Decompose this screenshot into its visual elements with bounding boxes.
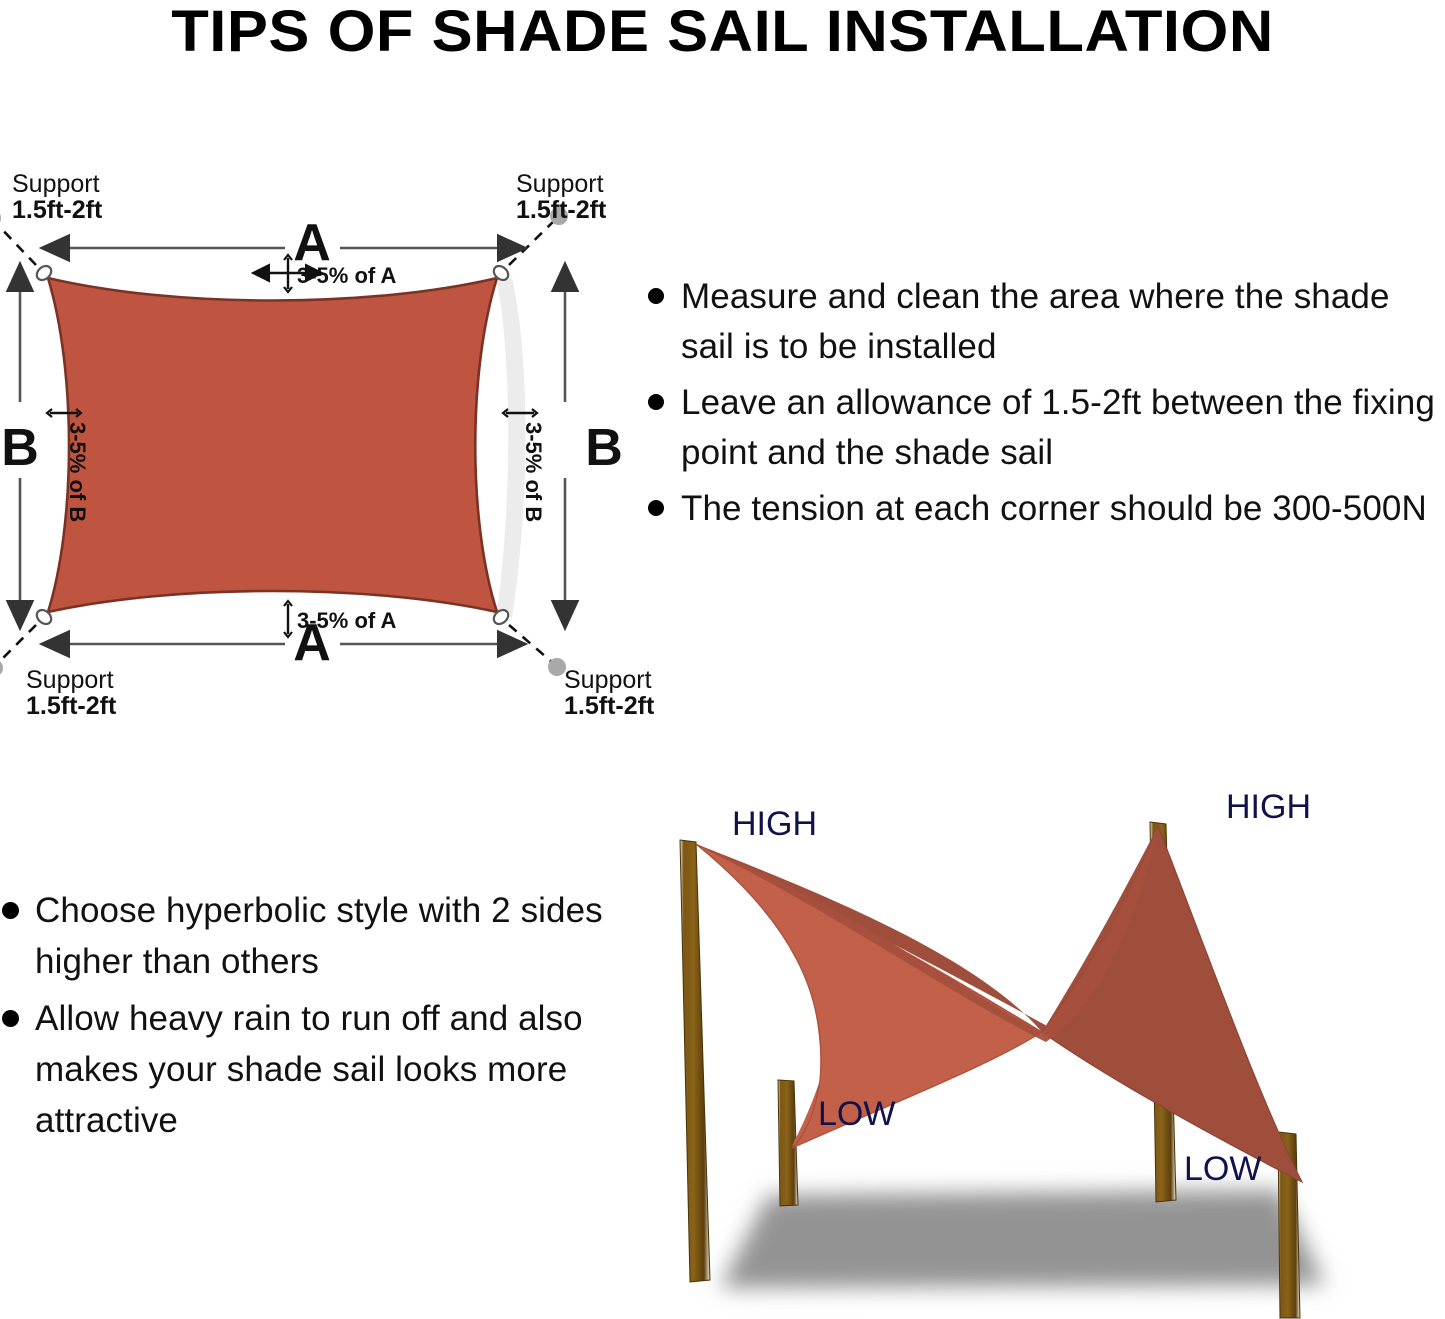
support-top-right-line1: Support bbox=[516, 170, 604, 198]
support-bottom-right-line1: Support bbox=[564, 666, 652, 694]
rectangular-sail-diagram: A 3-5% of A A 3-5% of A B 3-5% of B B 3-… bbox=[0, 160, 660, 730]
bullet-icon bbox=[2, 1010, 19, 1027]
list-item: Leave an allowance of 1.5-2ft between th… bbox=[648, 378, 1445, 478]
post-label-low-right: LOW bbox=[1184, 1150, 1261, 1188]
post-label-high-left: HIGH bbox=[732, 805, 817, 843]
support-line-bottom-left bbox=[0, 625, 36, 664]
sag-b-right-label: 3-5% of B bbox=[521, 422, 546, 522]
support-bottom-left-line2: 1.5ft-2ft bbox=[26, 692, 117, 720]
support-line-bottom-right bbox=[509, 625, 553, 663]
support-line-top-left bbox=[0, 222, 36, 265]
bullet-icon bbox=[2, 902, 19, 919]
bullet-icon bbox=[648, 394, 664, 410]
dim-b-left-label: B bbox=[1, 419, 39, 477]
tips-list-right: Measure and clean the area where the sha… bbox=[648, 272, 1445, 540]
sag-a-bottom-label: 3-5% of A bbox=[297, 608, 397, 633]
ground-shadow bbox=[720, 1190, 1325, 1288]
tips-list-left: Choose hyperbolic style with 2 sides hig… bbox=[2, 885, 622, 1152]
bullet-icon bbox=[648, 500, 664, 516]
sag-b-left-label: 3-5% of B bbox=[65, 422, 90, 522]
page-title: TIPS OF SHADE SAIL INSTALLATION bbox=[0, 0, 1445, 64]
list-item: Measure and clean the area where the sha… bbox=[648, 272, 1445, 372]
tip-text: Choose hyperbolic style with 2 sides hig… bbox=[35, 885, 622, 987]
list-item: The tension at each corner should be 300… bbox=[648, 484, 1445, 534]
hyperbolic-sail-diagram: HIGH HIGH LOW LOW bbox=[660, 780, 1445, 1319]
list-item: Choose hyperbolic style with 2 sides hig… bbox=[2, 885, 622, 987]
anchor-dot-bottom-left bbox=[0, 659, 3, 677]
support-line-top-right bbox=[509, 220, 555, 265]
post-label-high-right: HIGH bbox=[1226, 788, 1311, 826]
support-top-left-line1: Support bbox=[12, 170, 100, 198]
dim-b-right-label: B bbox=[585, 419, 623, 477]
list-item: Allow heavy rain to run off and also mak… bbox=[2, 993, 622, 1146]
support-bottom-left-line1: Support bbox=[26, 666, 114, 694]
tip-text: The tension at each corner should be 300… bbox=[681, 484, 1427, 534]
tip-text: Allow heavy rain to run off and also mak… bbox=[35, 993, 622, 1146]
post-label-low-left: LOW bbox=[818, 1095, 895, 1133]
post-high-left bbox=[680, 840, 710, 1282]
tip-text: Measure and clean the area where the sha… bbox=[681, 272, 1445, 372]
support-top-right-line2: 1.5ft-2ft bbox=[516, 196, 607, 224]
support-top-left-line2: 1.5ft-2ft bbox=[12, 196, 103, 224]
bullet-icon bbox=[648, 288, 664, 304]
shade-sail-shape bbox=[48, 278, 497, 612]
anchor-dot-top-left bbox=[0, 209, 1, 227]
sag-a-top-label: 3-5% of A bbox=[297, 263, 397, 288]
tip-text: Leave an allowance of 1.5-2ft between th… bbox=[681, 378, 1445, 478]
support-bottom-right-line2: 1.5ft-2ft bbox=[564, 692, 655, 720]
